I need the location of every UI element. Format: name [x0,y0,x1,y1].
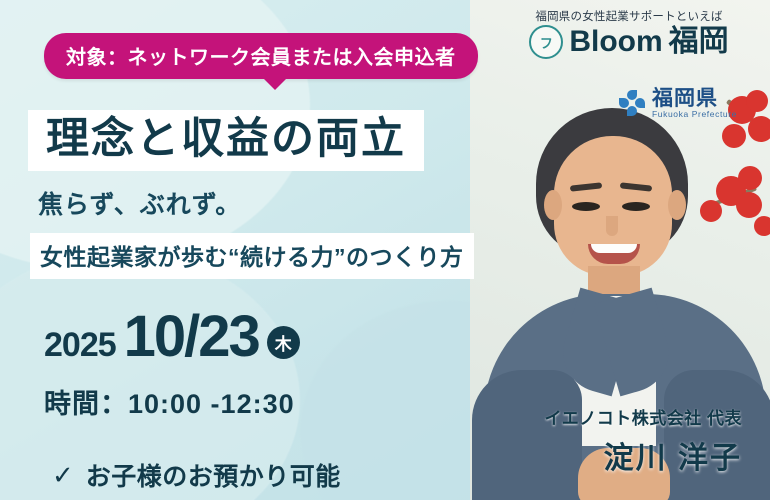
portrait-eye-right [622,202,650,211]
bloom-logo-icon: フ [529,25,563,59]
bloom-fukuoka-brand: 福岡県の女性起業サポートといえば フ Bloom 福岡 [504,8,754,59]
seminar-title: 理念と収益の両立 [28,110,424,171]
speaker-company: イエノコト株式会社 代表 [544,404,742,429]
brand-tagline: 福岡県の女性起業サポートといえば [504,8,754,24]
brand-name-en: Bloom [569,27,662,57]
seminar-subtitle-2: 女性起業家が歩む“続ける力”のつくり方 [30,233,474,279]
brand-name-jp: 福岡 [669,27,729,57]
check-icon: ✓ [52,462,74,488]
event-time: 時間：10:00 -12:30 [44,382,295,421]
portrait-ear-left [544,190,562,220]
event-month-day: 10/23 [124,308,259,366]
portrait-nose [606,216,618,236]
speaker-credit: イエノコト株式会社 代表 淀川 洋子 [544,404,742,477]
portrait-teeth [591,244,637,253]
prefecture-flower-icon [619,90,645,116]
fukuoka-prefecture-logo: 福岡県 Fukuoka Prefecture [619,88,737,119]
title-block: 理念と収益の両立 焦らず、ぶれず。 女性起業家が歩む“続ける力”のつくり方 [28,110,474,279]
poster-canvas: 福岡県の女性起業サポートといえば フ Bloom 福岡 福岡県 Fukuoka … [0,0,770,500]
speaker-name: 淀川 洋子 [544,433,742,477]
event-day-of-week-badge: 木 [267,326,300,359]
portrait-eye-left [572,202,600,211]
prefecture-name-en: Fukuoka Prefecture [652,110,737,119]
audience-ribbon: 対象：ネットワーク会員または入会申込者 [44,33,478,79]
childcare-label: お子様のお預かり可能 [86,457,341,493]
portrait-ear-right [668,190,686,220]
brand-name-lockup: フ Bloom 福岡 [504,25,754,59]
prefecture-text: 福岡県 Fukuoka Prefecture [652,88,737,119]
seminar-subtitle-1: 焦らず、ぶれず。 [28,185,474,221]
event-year: 2025 [44,328,116,366]
prefecture-name-jp: 福岡県 [652,88,737,110]
childcare-note: ✓ お子様のお預かり可能 [52,457,341,493]
event-date: 2025 10/23 木 [44,308,300,366]
